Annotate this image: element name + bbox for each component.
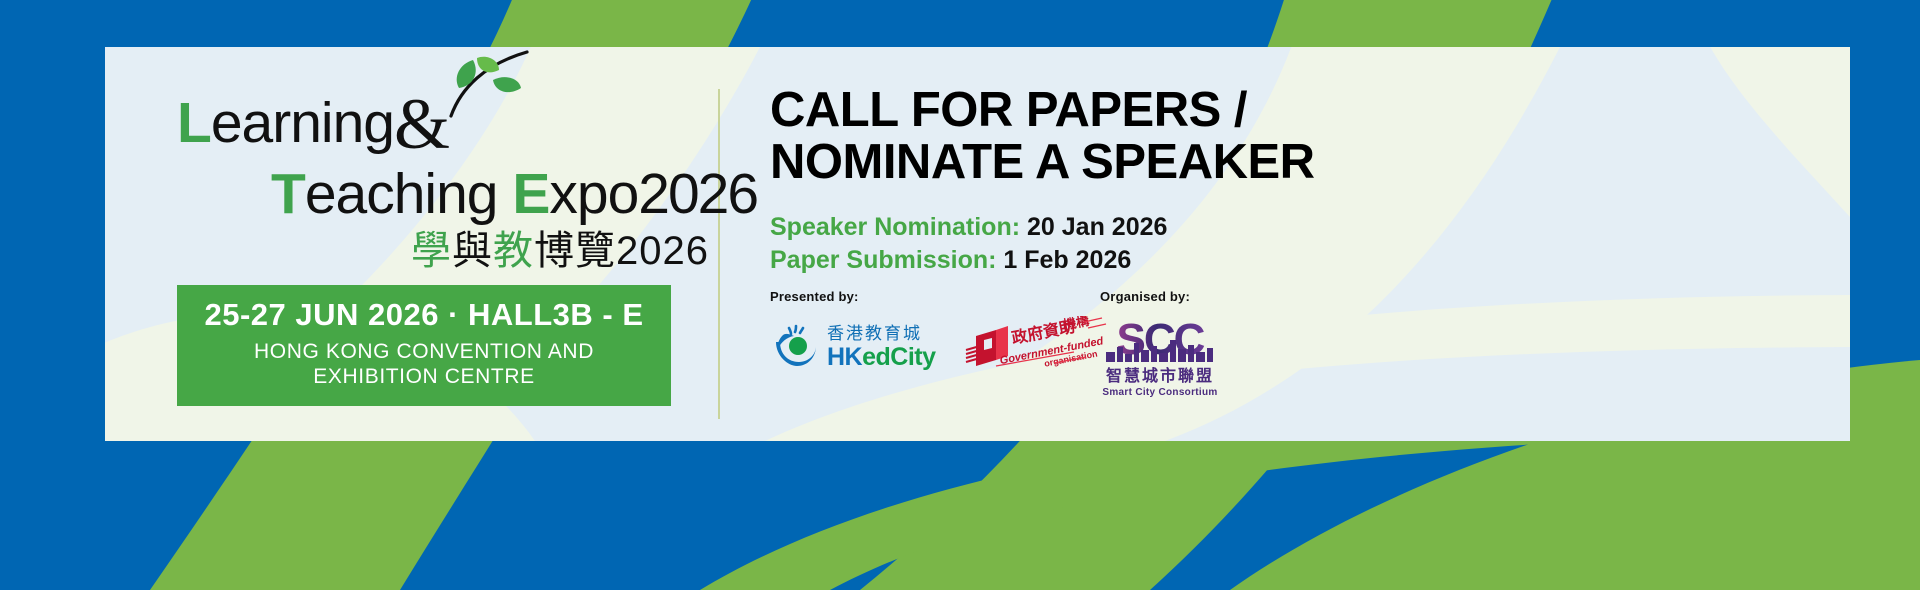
hkedcity-chinese-name: 香港教育城 bbox=[827, 324, 922, 343]
logo-cap-e: E bbox=[512, 162, 549, 226]
date-venue-banner: 25-27 JUN 2026 · HALL3B - E HONG KONG CO… bbox=[177, 285, 671, 406]
leaf-sprig-icon bbox=[443, 50, 533, 120]
hkedcity-logo[interactable]: 香港教育城 HKedCity bbox=[770, 322, 936, 372]
logo-cap-l: L bbox=[177, 91, 211, 155]
headline-line-2: NOMINATE A SPEAKER bbox=[770, 137, 1790, 189]
logo-cap-t: T bbox=[271, 162, 305, 226]
logo-text-eaching: eaching bbox=[305, 162, 498, 226]
logo-text-xpo: xpo bbox=[549, 162, 638, 226]
presented-by-group: Presented by: bbox=[770, 289, 1110, 372]
hkedcity-edcity: edCity bbox=[862, 343, 935, 371]
organised-by-label: Organised by: bbox=[1100, 289, 1220, 304]
scc-chinese-name: 智慧城市聯盟 bbox=[1100, 362, 1220, 386]
logo-ampersand: & bbox=[394, 84, 449, 164]
logo-cn-char-3: 教 bbox=[493, 229, 534, 273]
deadline-value: 20 Jan 2026 bbox=[1027, 213, 1167, 241]
logo-text-earning: earning bbox=[211, 91, 394, 155]
content-panel: Learning& Teaching Expo2026 學與教博覽2026 bbox=[105, 47, 1850, 441]
scc-logo-icon: SCC bbox=[1100, 316, 1220, 364]
logo-chinese-title: 學與教博覽2026 bbox=[175, 229, 695, 273]
logo-cn-year: 2026 bbox=[616, 229, 709, 273]
event-banner: Learning& Teaching Expo2026 學與教博覽2026 bbox=[0, 0, 1920, 590]
headline-line-1: CALL FOR PAPERS / bbox=[770, 85, 1790, 137]
logo-cn-char-4: 博覽 bbox=[534, 229, 616, 273]
logo-cn-char-1: 學 bbox=[411, 229, 452, 273]
government-funded-logo[interactable]: 政府資助 機構 Government-funded organisation bbox=[962, 316, 1110, 372]
government-funded-logo-icon: 政府資助 機構 Government-funded organisation bbox=[962, 316, 1110, 372]
hkedcity-logo-icon bbox=[770, 322, 820, 372]
event-logo: Learning& Teaching Expo2026 學與教博覽2026 bbox=[175, 82, 695, 273]
deadline-paper-submission: Paper Submission: 1 Feb 2026 bbox=[770, 244, 1790, 277]
event-dates: 25-27 JUN 2026 · HALL3B - E bbox=[187, 297, 661, 333]
venue-line-2: EXHIBITION CENTRE bbox=[187, 365, 661, 390]
logo-cn-char-2: 與 bbox=[452, 229, 493, 273]
deadlines-list: Speaker Nomination: 20 Jan 2026 Paper Su… bbox=[770, 211, 1790, 277]
svg-text:機構: 機構 bbox=[1061, 316, 1089, 333]
hkedcity-hk: HK bbox=[827, 343, 862, 371]
organised-by-group: Organised by: bbox=[1100, 289, 1220, 398]
vertical-divider bbox=[718, 89, 720, 419]
event-venue: HONG KONG CONVENTION AND EXHIBITION CENT… bbox=[187, 340, 661, 390]
scc-logo[interactable]: SCC bbox=[1100, 316, 1220, 398]
call-for-papers-block: CALL FOR PAPERS / NOMINATE A SPEAKER Spe… bbox=[770, 85, 1790, 277]
deadline-speaker-nomination: Speaker Nomination: 20 Jan 2026 bbox=[770, 211, 1790, 244]
page-title: CALL FOR PAPERS / NOMINATE A SPEAKER bbox=[770, 85, 1790, 189]
logo-line-learning: Learning& bbox=[175, 82, 695, 154]
deadline-label: Speaker Nomination: bbox=[770, 213, 1020, 241]
logo-year: 2026 bbox=[638, 162, 757, 226]
deadline-label: Paper Submission: bbox=[770, 246, 996, 274]
logo-line-teaching-expo: Teaching Expo2026 bbox=[175, 166, 695, 223]
hkedcity-english-name: HKedCity bbox=[827, 345, 936, 370]
deadline-value: 1 Feb 2026 bbox=[1003, 246, 1131, 274]
venue-line-1: HONG KONG CONVENTION AND bbox=[187, 340, 661, 365]
scc-english-name: Smart City Consortium bbox=[1100, 387, 1220, 398]
presented-by-label: Presented by: bbox=[770, 289, 1110, 304]
